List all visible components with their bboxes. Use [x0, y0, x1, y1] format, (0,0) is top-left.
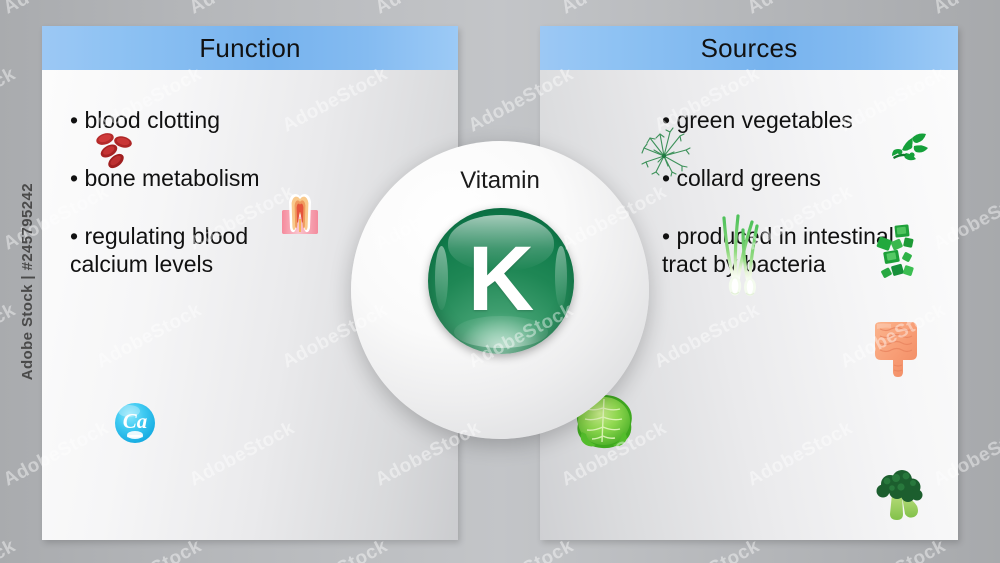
tooth-icon — [279, 188, 321, 236]
list-item: • collard greens — [662, 164, 942, 192]
green-onion-icon — [712, 212, 774, 298]
calcium-icon: Ca — [112, 400, 158, 446]
watermark-text: AdobeStock — [186, 0, 299, 19]
intestine-icon — [867, 320, 923, 378]
parsley-icon — [888, 128, 932, 168]
watermark-text: AdobeStock — [372, 0, 485, 19]
stock-id-text: Adobe Stock | #245795242 — [19, 183, 36, 380]
chopped-greens-icon — [870, 222, 922, 284]
vitamin-pill: K — [428, 208, 574, 354]
red-blood-cells-icon — [92, 130, 136, 170]
panel-function-title: Function — [199, 33, 300, 64]
watermark-text: AdobeStock — [558, 0, 671, 19]
vitamin-badge: Vitamin K — [351, 141, 649, 439]
panel-sources-title: Sources — [701, 33, 798, 64]
watermark-text: AdobeStock — [930, 0, 1000, 19]
list-item: • regulating blood — [70, 222, 370, 250]
svg-text:Ca: Ca — [123, 409, 148, 433]
vitamin-letter: K — [428, 208, 574, 354]
list-item-continued: calcium levels — [70, 250, 370, 278]
broccoli-icon — [872, 470, 928, 522]
vitamin-label: Vitamin — [351, 167, 649, 195]
panel-sources-header: Sources — [540, 26, 958, 70]
panel-function-header: Function — [42, 26, 458, 70]
stock-id-sidebar: Adobe Stock | #245795242 — [14, 0, 40, 563]
watermark-text: AdobeStock — [744, 0, 857, 19]
infographic-canvas: Function — [0, 0, 1000, 563]
